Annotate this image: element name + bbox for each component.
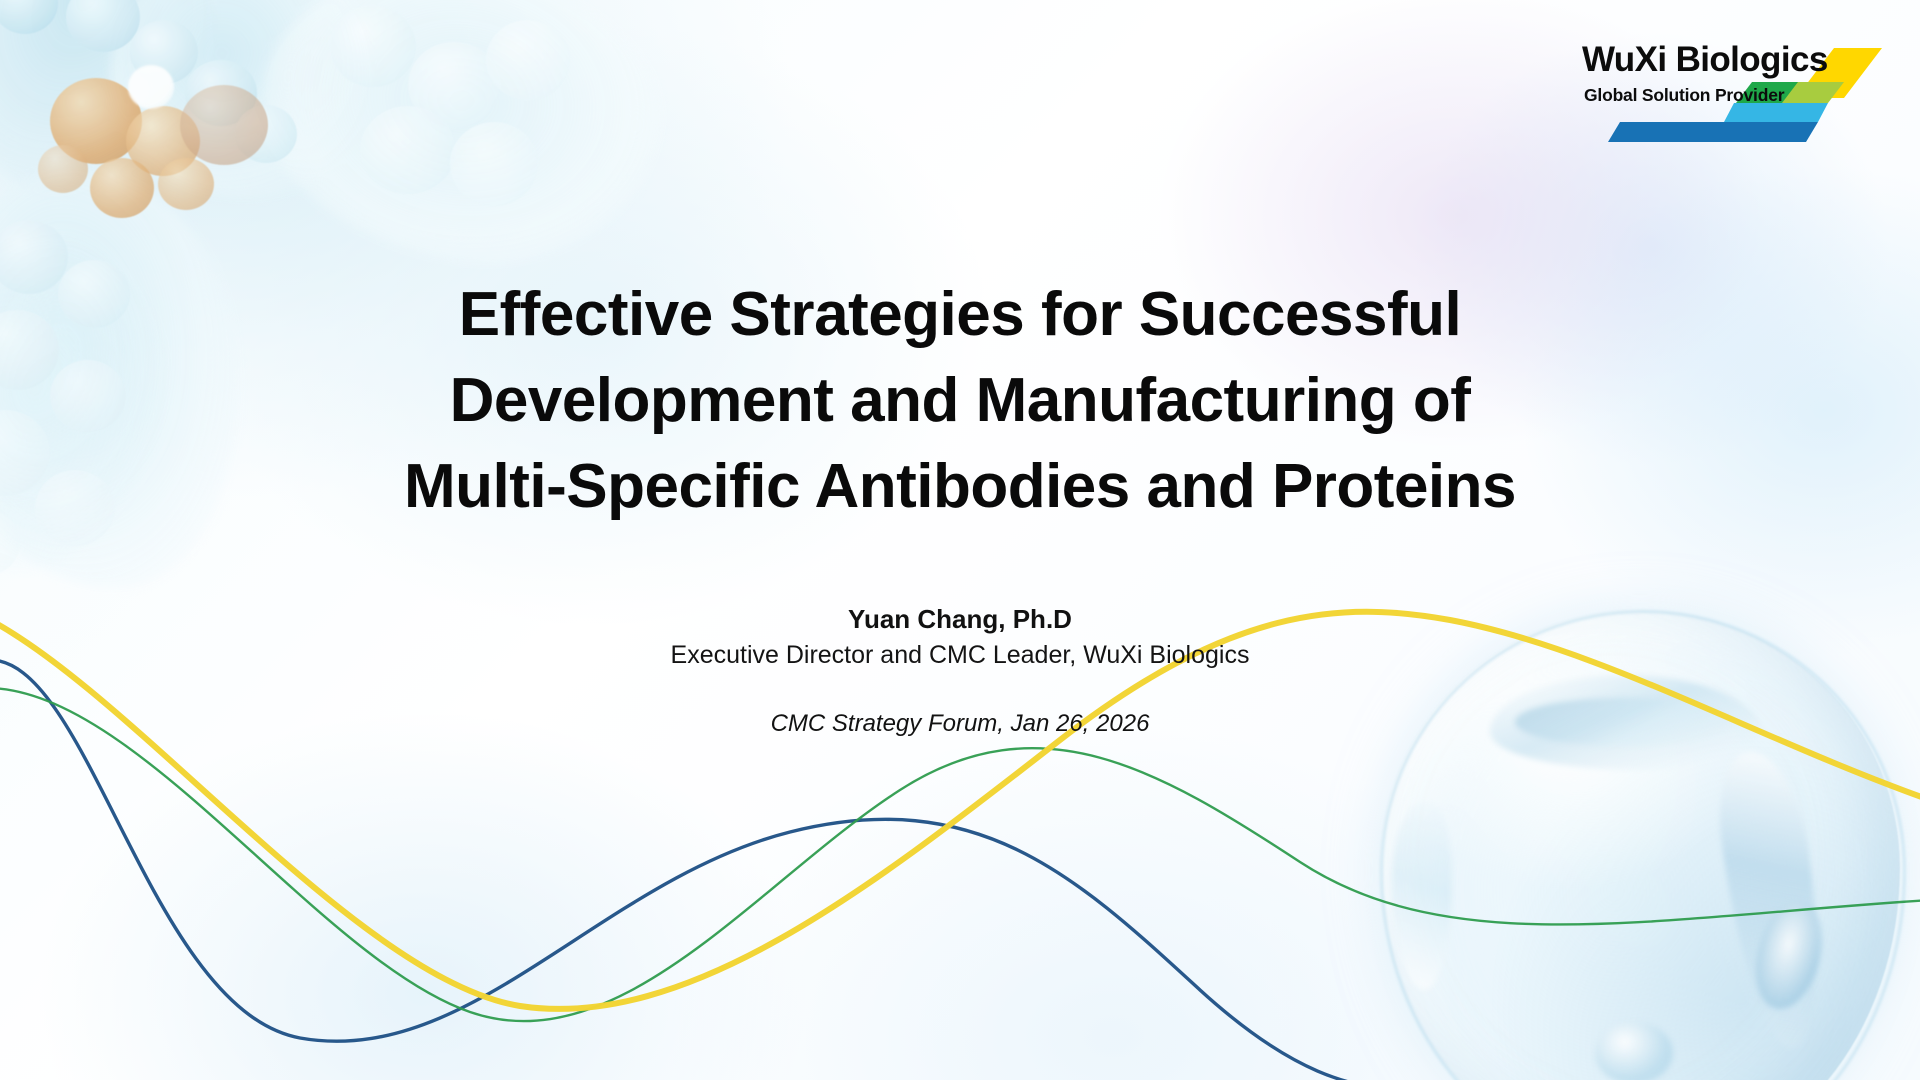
title-line-2: Development and Manufacturing of — [0, 358, 1920, 444]
event-line: CMC Strategy Forum, Jan 26, 2026 — [0, 710, 1920, 738]
logo-tagline: Global Solution Provider — [1584, 85, 1784, 106]
title-line-1: Effective Strategies for Successful — [0, 272, 1920, 358]
presenter-block: Yuan Chang, Ph.D Executive Director and … — [0, 602, 1920, 674]
title-slide: WuXi Biologics Global Solution Provider … — [0, 0, 1920, 1080]
logo-wordmark: WuXi Biologics — [1582, 40, 1828, 80]
decorative-wave-lines — [0, 0, 1920, 1080]
presenter-role: Executive Director and CMC Leader, WuXi … — [0, 636, 1920, 674]
presenter-name: Yuan Chang, Ph.D — [0, 602, 1920, 636]
slide-title: Effective Strategies for Successful Deve… — [0, 272, 1920, 530]
wuxi-biologics-logo: WuXi Biologics Global Solution Provider — [1582, 40, 1892, 148]
title-line-3: Multi-Specific Antibodies and Proteins — [0, 444, 1920, 530]
background-gradient — [0, 0, 1920, 1080]
